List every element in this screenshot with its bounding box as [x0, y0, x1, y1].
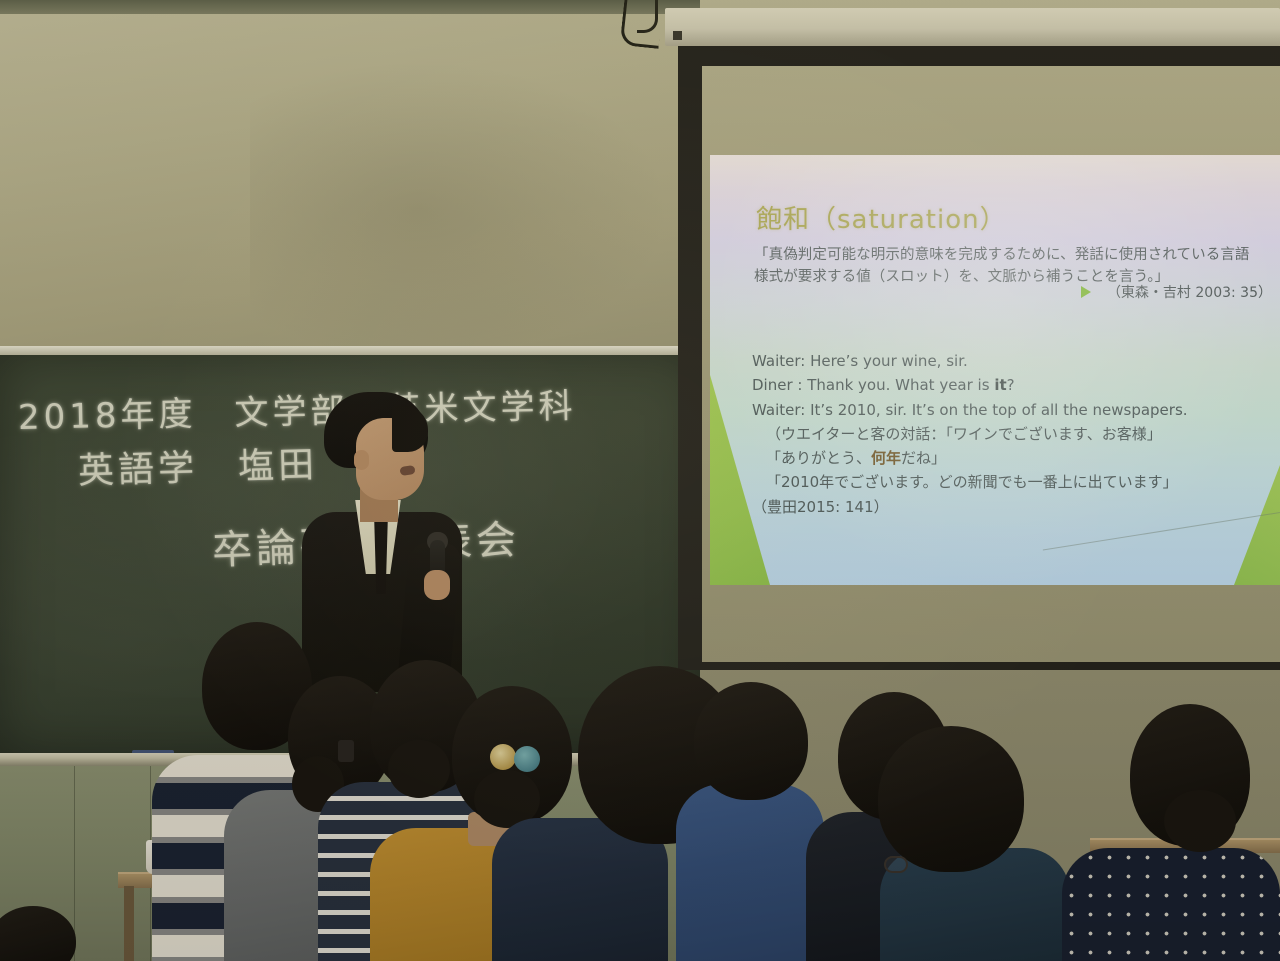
- chalkboard-line-2: 英語学 塩田: [77, 436, 318, 494]
- audience-person-3-hair-bun: [388, 740, 450, 798]
- presentation-slide: 飽和（saturation） 「真偽判定可能な明示的意味を完成するために、発話に…: [710, 155, 1280, 585]
- dialogue-source-citation: （豊田2015: 141）: [752, 495, 1262, 519]
- audience-person-8-head: [878, 726, 1024, 872]
- presenter-hair-side: [392, 406, 428, 452]
- slide-citation-top: （東森・吉村 2003: 35）: [1107, 282, 1272, 302]
- dialogue-line-jp-1: （ウエイターと客の対話：「ワインでございます、お客様」: [752, 422, 1262, 446]
- dialogue-line-waiter-2: Waiter: It’s 2010, sir. It’s on the top …: [752, 398, 1262, 422]
- presenter-hand: [424, 570, 450, 600]
- highlight-it: it: [994, 376, 1006, 394]
- highlight-nannen: 何年: [871, 449, 901, 467]
- audience-person-4-hairclip-teal: [514, 746, 540, 772]
- dialogue-line-waiter-1: Waiter: Here’s your wine, sir.: [752, 349, 1262, 373]
- audience-person-6-head: [694, 682, 808, 800]
- audience-person-9-hair-bun: [1164, 790, 1236, 852]
- audience-person-2-hairclip: [338, 740, 354, 762]
- slide-title: 飽和（saturation）: [756, 199, 1007, 236]
- audience-person-8-glasses: [884, 856, 908, 873]
- slide-citation-row: （東森・吉村 2003: 35）: [1081, 282, 1272, 302]
- triangle-bullet-icon: [1081, 286, 1091, 298]
- dialogue-line-jp-3: 「2010年でございます。どの新聞でも一番上に出ています」: [752, 470, 1262, 494]
- chalkboard-top-rail: [0, 346, 700, 355]
- screen-housing-endcap: [673, 31, 682, 40]
- screen-housing: [665, 8, 1280, 46]
- dialogue-line-jp-2: 「ありがとう、何年だね」: [752, 446, 1262, 470]
- projection-screen-surface: 飽和（saturation） 「真偽判定可能な明示的意味を完成するために、発話に…: [702, 66, 1280, 662]
- audience-person-6-torso: [676, 784, 824, 961]
- audience-person-9-torso: [1062, 848, 1280, 961]
- slide-dialogue-block: Waiter: Here’s your wine, sir. Diner : T…: [752, 349, 1262, 519]
- audience-person-4-hairclip-gold: [490, 744, 516, 770]
- dialogue-line-diner-1: Diner : Thank you. What year is it?: [752, 373, 1262, 397]
- wall-shadow: [250, 60, 670, 360]
- presenter: [296, 392, 466, 692]
- lecture-hall-photo: 2018年度 文学部 英米文学科 英語学 塩田 卒論研究発表会 飽和（satur…: [0, 0, 1280, 961]
- presenter-ear: [354, 450, 369, 470]
